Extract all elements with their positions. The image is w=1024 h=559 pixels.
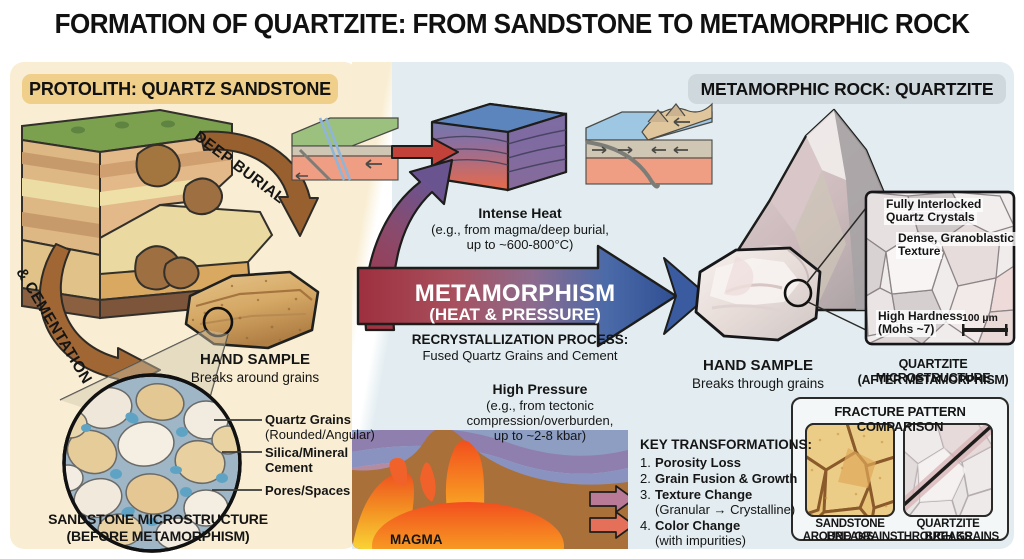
metamorphism-title: METAMORPHISM — [400, 280, 630, 307]
magma-label: MAGMA — [390, 532, 443, 547]
right-hand-sample-subtitle: Breaks through grains — [676, 376, 840, 391]
inset-dense-line2: Texture — [896, 245, 942, 259]
key-transformation-3-sub: (Granular → Crystalline) — [655, 503, 795, 518]
inset-scale-bar-label: 100 µm — [962, 313, 998, 325]
protolith-panel — [10, 62, 358, 549]
high-pressure-line2: compression/overburden, — [425, 414, 655, 429]
high-pressure-title: High Pressure — [440, 382, 640, 398]
page-title: FORMATION OF QUARTZITE: FROM SANDSTONE T… — [36, 8, 988, 40]
protolith-chip: PROTOLITH: QUARTZ SANDSTONE — [22, 74, 338, 104]
right-hand-sample-title: HAND SAMPLE — [686, 358, 830, 375]
key-transformation-4-sub: (with impurities) — [655, 534, 746, 549]
key-transformation-1-title: Porosity Loss — [655, 456, 741, 471]
callout-cement-sub: Cement — [265, 461, 313, 476]
sandstone-microstructure-caption-1: SANDSTONE MICROSTRUCTURE — [8, 512, 308, 528]
key-transformations-heading: KEY TRANSFORMATIONS: — [640, 437, 812, 452]
inset-hardness-line2: (Mohs ~7) — [876, 323, 936, 337]
callout-pores-title: Pores/Spaces — [265, 484, 350, 499]
key-transformation-2-num: 2. — [640, 472, 651, 487]
key-transformation-4-num: 4. — [640, 519, 651, 534]
intense-heat-line1: (e.g., from magma/deep burial, — [410, 223, 630, 238]
panel-divider — [352, 62, 392, 549]
recrystallization-subtitle: Fused Quartz Grains and Cement — [400, 349, 640, 364]
fracture-box-heading: FRACTURE PATTERN COMPARISON — [792, 405, 1008, 434]
high-pressure-line3: up to ~2-8 kbar) — [430, 429, 650, 444]
fracture-left-caption-2: AROUND GRAINS — [798, 531, 902, 544]
intense-heat-line2: up to ~600-800°C) — [410, 238, 630, 253]
recrystallization-title: RECRYSTALLIZATION PROCESS: — [405, 332, 635, 347]
key-transformation-3-title: Texture Change — [655, 488, 752, 503]
callout-cement-title: Silica/Mineral — [265, 446, 348, 461]
left-hand-sample-subtitle: Breaks around grains — [170, 370, 340, 385]
fracture-right-caption-2: THROUGH GRAINS — [896, 531, 1000, 544]
callout-quartz-grains-title: Quartz Grains — [265, 413, 351, 428]
callout-quartz-grains-sub: (Rounded/Angular) — [265, 428, 375, 443]
metamorphism-subtitle: (HEAT & PRESSURE) — [400, 305, 630, 324]
intense-heat-title: Intense Heat — [420, 206, 620, 222]
inset-interlocked-line2: Quartz Crystals — [884, 211, 977, 225]
key-transformation-1-num: 1. — [640, 456, 651, 471]
key-transformation-3-num: 3. — [640, 488, 651, 503]
key-transformation-2-title: Grain Fusion & Growth — [655, 472, 797, 487]
infographic-canvas: FORMATION OF QUARTZITE: FROM SANDSTONE T… — [0, 0, 1024, 559]
quartzite-microstructure-caption-2: (AFTER METAMORPHISM) — [842, 373, 1024, 387]
high-pressure-line1: (e.g., from tectonic — [430, 399, 650, 414]
metamorphic-chip: METAMORPHIC ROCK: QUARTZITE — [688, 74, 1006, 104]
key-transformation-4-title: Color Change — [655, 519, 740, 534]
sandstone-microstructure-caption-2: (BEFORE METAMORPHISM) — [8, 529, 308, 545]
left-hand-sample-title: HAND SAMPLE — [180, 352, 330, 369]
